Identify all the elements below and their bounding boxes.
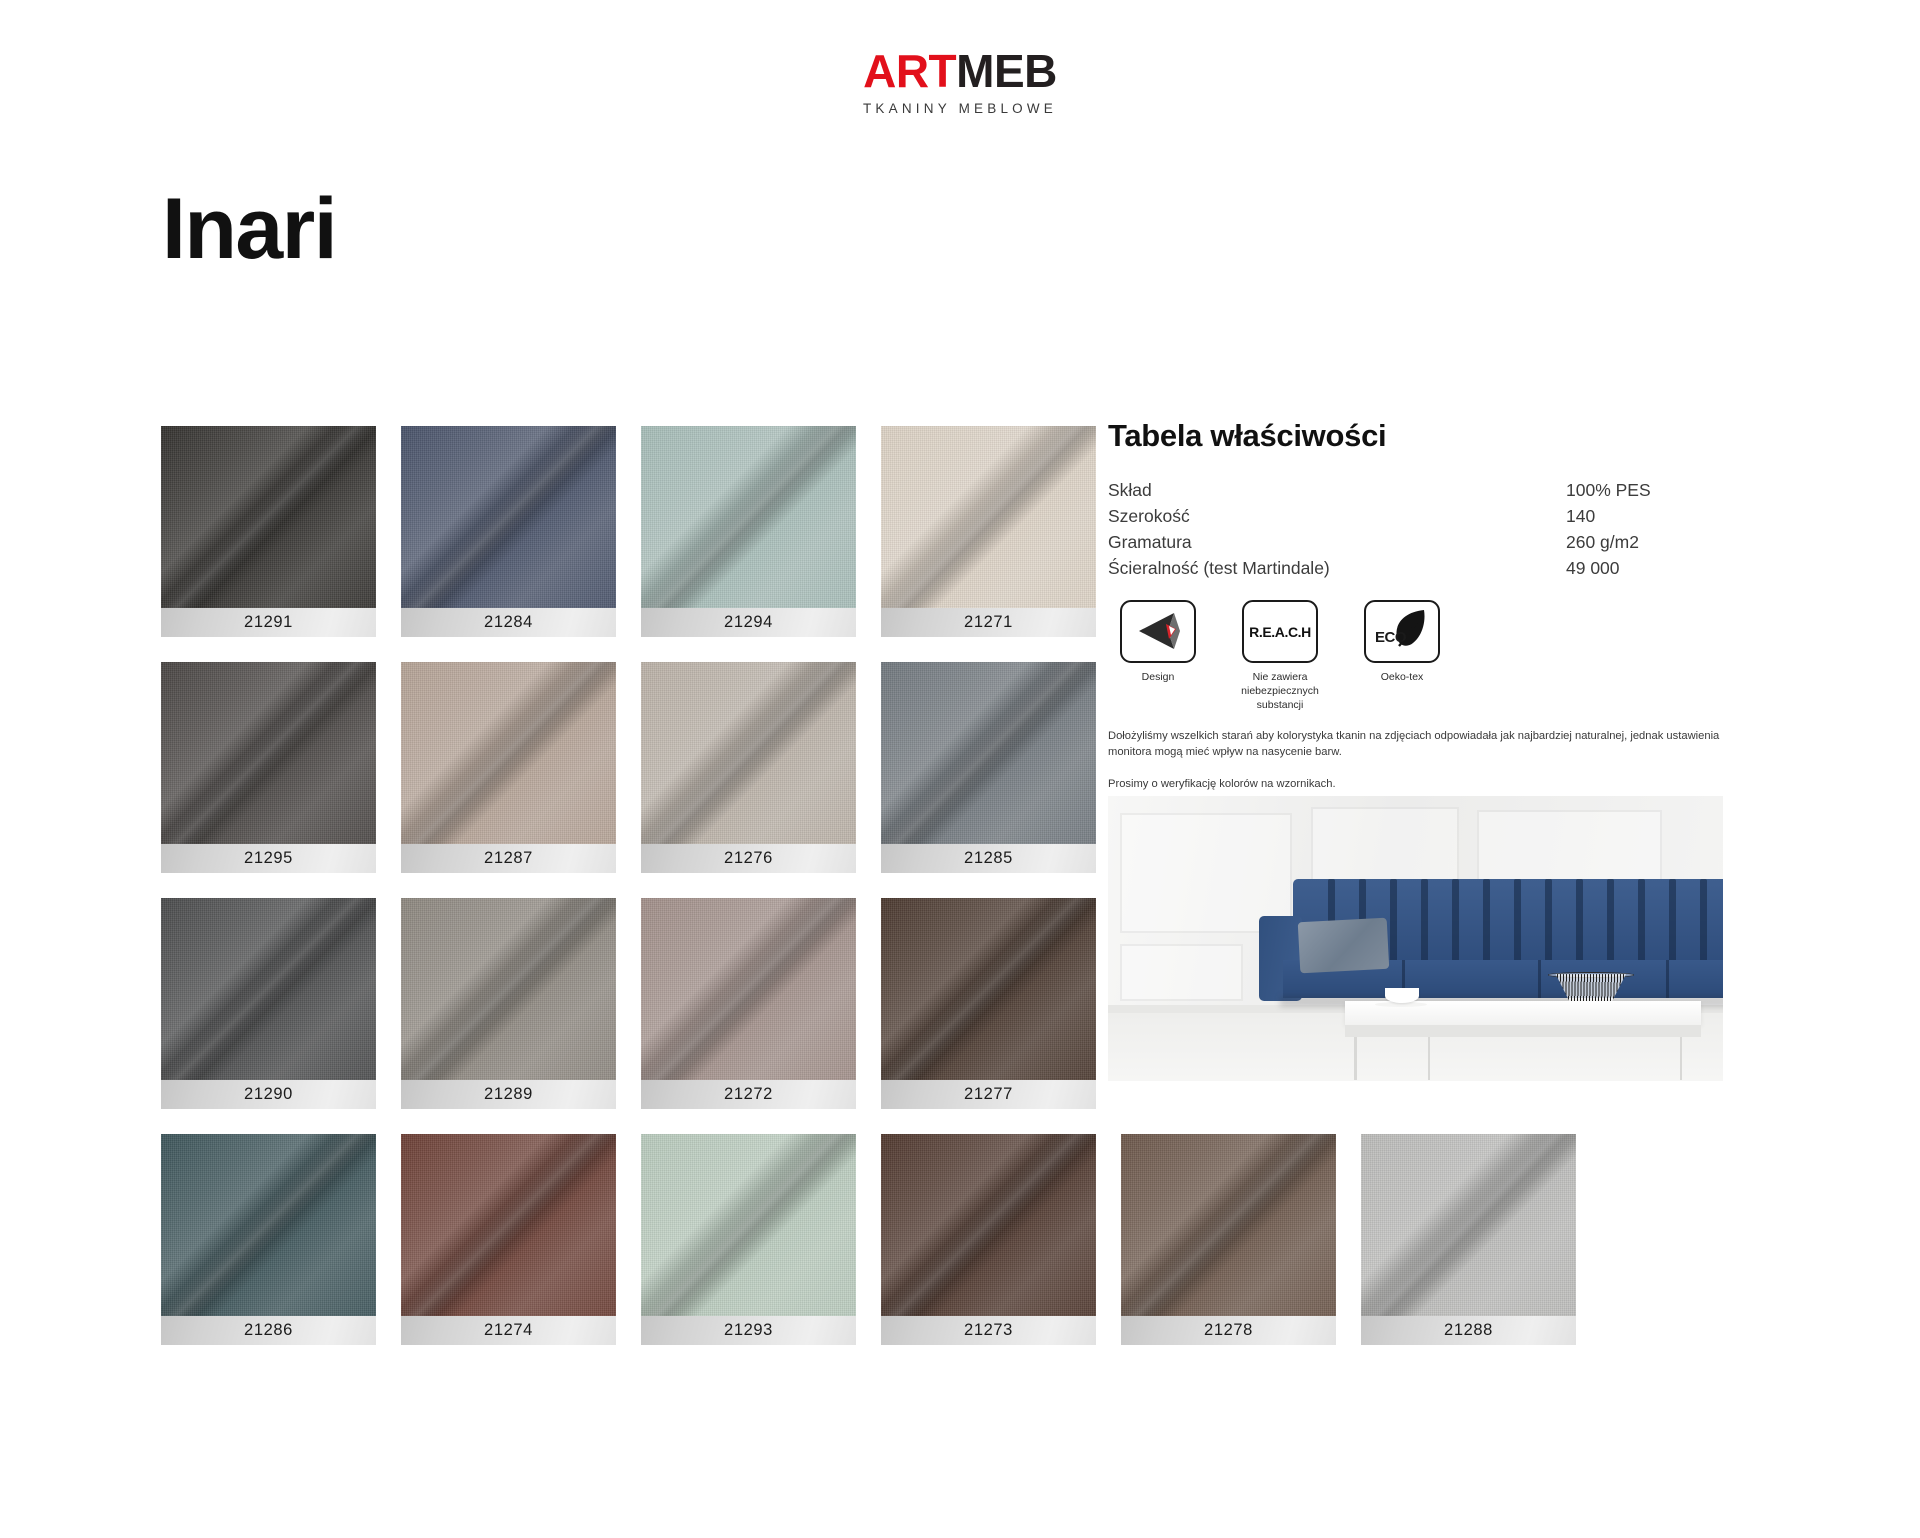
spec-row: Szerokość 140: [1108, 504, 1728, 530]
spec-value: 49 000: [1566, 556, 1728, 582]
disclaimer-paragraph-2: Prosimy o weryfikację kolorów na wzornik…: [1108, 776, 1723, 792]
swatch-code-label: 21285: [881, 844, 1096, 873]
fold-edge: [401, 1134, 616, 1316]
wall-panel: [1120, 813, 1292, 933]
oekotex-badge-box: ECO: [1364, 600, 1440, 663]
swatch-card[interactable]: 21284: [401, 426, 616, 637]
fold-edge: [881, 426, 1096, 608]
swatch-card[interactable]: 21286: [161, 1134, 376, 1345]
collection-title: Inari: [162, 186, 336, 272]
swatch-card[interactable]: 21285: [881, 662, 1096, 873]
design-arrow-icon: [1122, 602, 1196, 660]
swatch-row: 21286 21274 21293: [161, 1134, 1581, 1345]
swatch-code-label: 21272: [641, 1080, 856, 1109]
certification-reach: R.E.A.C.H Nie zawiera niebezpiecznych su…: [1234, 600, 1326, 713]
spec-key: Gramatura: [1108, 530, 1566, 556]
spec-row: Skład 100% PES: [1108, 478, 1728, 504]
swatch-code-label: 21293: [641, 1316, 856, 1345]
properties-table: Tabela właściwości Skład 100% PES Szerok…: [1108, 418, 1728, 582]
spec-value: 260 g/m2: [1566, 530, 1728, 556]
swatch-image: [881, 426, 1096, 608]
certification-oekotex: ECO Oeko-tex: [1356, 600, 1448, 713]
throw-pillow: [1297, 918, 1389, 974]
coffee-table-leg: [1680, 1037, 1683, 1080]
oekotex-badge-caption: Oeko-tex: [1356, 671, 1448, 685]
spec-key: Szerokość: [1108, 504, 1566, 530]
fold-edge: [161, 1134, 376, 1316]
eco-badge-text: ECO: [1375, 629, 1406, 646]
certification-design: Design: [1112, 600, 1204, 713]
interior-photo: [1108, 796, 1723, 1081]
swatch-card[interactable]: 21291: [161, 426, 376, 637]
swatch-code-label: 21291: [161, 608, 376, 637]
swatch-code-label: 21290: [161, 1080, 376, 1109]
fold-edge: [641, 662, 856, 844]
swatch-code-label: 21287: [401, 844, 616, 873]
fold-edge: [401, 898, 616, 1080]
spec-value: 140: [1566, 504, 1728, 530]
swatch-image: [161, 426, 376, 608]
swatch-code-label: 21278: [1121, 1316, 1336, 1345]
brand-logo-art: ART: [863, 45, 956, 97]
swatch-code-label: 21274: [401, 1316, 616, 1345]
swatch-code-label: 21276: [641, 844, 856, 873]
design-badge-caption: Design: [1112, 671, 1204, 685]
coffee-cup: [1385, 988, 1419, 1002]
swatch-image: [161, 662, 376, 844]
spec-value: 100% PES: [1566, 478, 1728, 504]
swatch-image: [161, 898, 376, 1080]
spec-key: Skład: [1108, 478, 1566, 504]
fold-edge: [161, 426, 376, 608]
fold-edge: [881, 898, 1096, 1080]
swatch-image: [401, 426, 616, 608]
swatch-card[interactable]: 21293: [641, 1134, 856, 1345]
swatch-card[interactable]: 21276: [641, 662, 856, 873]
spec-row: Gramatura 260 g/m2: [1108, 530, 1728, 556]
swatch-image: [641, 1134, 856, 1316]
coffee-table-leg: [1428, 1037, 1431, 1080]
swatch-image: [881, 1134, 1096, 1316]
coffee-table-leg: [1354, 1037, 1357, 1080]
brand-tagline: TKANINY MEBLOWE: [0, 101, 1920, 116]
fold-edge: [161, 662, 376, 844]
swatch-image: [881, 662, 1096, 844]
swatch-code-label: 21277: [881, 1080, 1096, 1109]
fold-edge: [1361, 1134, 1576, 1316]
swatch-code-label: 21295: [161, 844, 376, 873]
fold-edge: [401, 426, 616, 608]
swatch-code-label: 21284: [401, 608, 616, 637]
swatch-card[interactable]: 21295: [161, 662, 376, 873]
swatch-image: [1361, 1134, 1576, 1316]
brand-logo: ARTMEB: [0, 48, 1920, 94]
swatch-code-label: 21286: [161, 1316, 376, 1345]
disclaimer-paragraph-1: Dołożyliśmy wszelkich starań aby kolorys…: [1108, 728, 1723, 760]
swatch-code-label: 21271: [881, 608, 1096, 637]
reach-badge-caption: Nie zawiera niebezpiecznych substancji: [1234, 671, 1326, 713]
color-disclaimer: Dołożyliśmy wszelkich starań aby kolorys…: [1108, 728, 1723, 793]
fold-edge: [641, 1134, 856, 1316]
swatch-image: [641, 426, 856, 608]
swatch-card[interactable]: 21294: [641, 426, 856, 637]
swatch-code-label: 21288: [1361, 1316, 1576, 1345]
swatch-code-label: 21273: [881, 1316, 1096, 1345]
swatch-image: [401, 898, 616, 1080]
swatch-image: [401, 1134, 616, 1316]
fold-edge: [401, 662, 616, 844]
fold-edge: [161, 898, 376, 1080]
swatch-image: [881, 898, 1096, 1080]
spec-key: Ścieralność (test Martindale): [1108, 556, 1566, 582]
fold-edge: [881, 662, 1096, 844]
swatch-image: [161, 1134, 376, 1316]
swatch-image: [401, 662, 616, 844]
wall-panel: [1120, 944, 1243, 1001]
swatch-code-label: 21289: [401, 1080, 616, 1109]
swatch-card[interactable]: 21288: [1361, 1134, 1576, 1345]
swatch-code-label: 21294: [641, 608, 856, 637]
swatch-card[interactable]: 21287: [401, 662, 616, 873]
swatch-card[interactable]: 21271: [881, 426, 1096, 637]
swatch-card[interactable]: 21272: [641, 898, 856, 1109]
fabric-collection-page: ARTMEB TKANINY MEBLOWE Inari 21291: [0, 0, 1920, 1538]
swatch-card[interactable]: 21277: [881, 898, 1096, 1109]
fold-edge: [641, 426, 856, 608]
design-badge-box: [1120, 600, 1196, 663]
coffee-table-edge: [1345, 1025, 1702, 1036]
brand-logo-meb: MEB: [956, 45, 1057, 97]
reach-badge-box: R.E.A.C.H: [1242, 600, 1318, 663]
swatch-card[interactable]: 21274: [401, 1134, 616, 1345]
swatch-image: [641, 662, 856, 844]
swatch-image: [641, 898, 856, 1080]
brand-header: ARTMEB TKANINY MEBLOWE: [0, 48, 1920, 116]
spec-row: Ścieralność (test Martindale) 49 000: [1108, 556, 1728, 582]
swatch-image: [1121, 1134, 1336, 1316]
certification-badges: Design R.E.A.C.H Nie zawiera niebezpiecz…: [1112, 600, 1448, 713]
swatch-card[interactable]: 21278: [1121, 1134, 1336, 1345]
fold-edge: [1121, 1134, 1336, 1316]
swatch-card[interactable]: 21289: [401, 898, 616, 1109]
properties-table-title: Tabela właściwości: [1108, 418, 1728, 454]
swatch-card[interactable]: 21273: [881, 1134, 1096, 1345]
fold-edge: [641, 898, 856, 1080]
fold-edge: [881, 1134, 1096, 1316]
swatch-card[interactable]: 21290: [161, 898, 376, 1109]
